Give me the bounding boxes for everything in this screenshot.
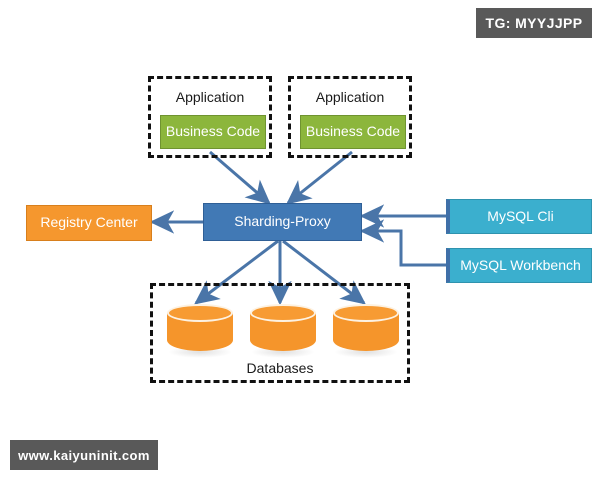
registry-center-node[interactable]: Registry Center (26, 205, 152, 241)
diagram-canvas: Application Business Code Application Bu… (0, 0, 600, 480)
edge-workbench-to-proxy (362, 231, 446, 265)
business-code-left[interactable]: Business Code (160, 115, 266, 149)
database-top (250, 304, 316, 322)
application-group-right: Application Business Code (288, 76, 412, 158)
database-top (167, 304, 233, 322)
databases-group: Databases (150, 283, 410, 383)
application-group-left-caption: Application (151, 89, 269, 105)
mysql-cli-node[interactable]: MySQL Cli (446, 199, 592, 234)
edge-bizleft-to-proxy (210, 152, 269, 203)
sharding-proxy-node[interactable]: Sharding-Proxy (203, 203, 362, 241)
application-group-left: Application Business Code (148, 76, 272, 158)
edge-bizright-to-proxy (288, 152, 352, 203)
site-watermark-badge: www.kaiyuninit.com (10, 440, 158, 470)
database-cylinder-3[interactable] (333, 304, 399, 358)
telegram-watermark-badge: TG: MYYJJPP (476, 8, 592, 38)
business-code-right[interactable]: Business Code (300, 115, 406, 149)
mysql-workbench-node[interactable]: MySQL Workbench (446, 248, 592, 283)
application-group-right-caption: Application (291, 89, 409, 105)
databases-group-caption: Databases (153, 360, 407, 376)
database-cylinder-1[interactable] (167, 304, 233, 358)
database-cylinder-2[interactable] (250, 304, 316, 358)
database-top (333, 304, 399, 322)
